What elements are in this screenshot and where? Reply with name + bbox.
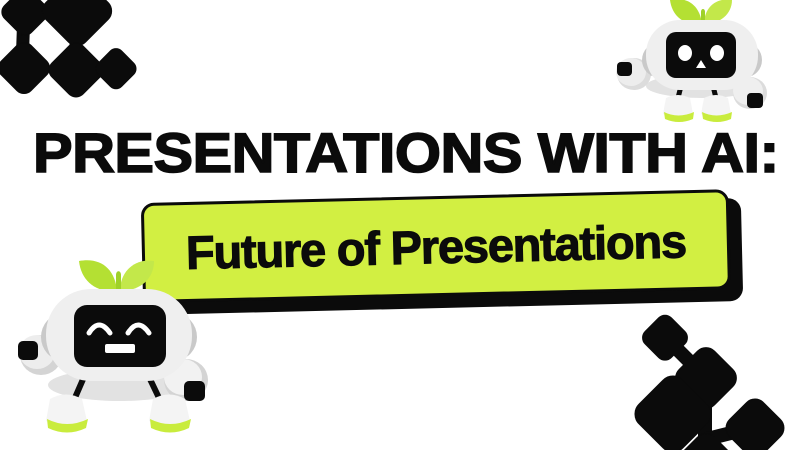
node-graph-icon-bottom-right	[625, 299, 800, 450]
subtitle-banner: Future of Presentations	[141, 189, 743, 315]
slide-title: PRESENTATIONS WITH AI:	[33, 124, 800, 182]
presentation-slide: PRESENTATIONS WITH AI: Future of Present…	[0, 0, 800, 450]
banner-body: Future of Presentations	[141, 189, 731, 303]
leaf-sprout-icon	[670, 0, 732, 26]
node-graph-icon-top-left	[0, 0, 166, 115]
banner-label: Future of Presentations	[185, 213, 686, 280]
robot-mascot-top-right	[606, 0, 796, 134]
